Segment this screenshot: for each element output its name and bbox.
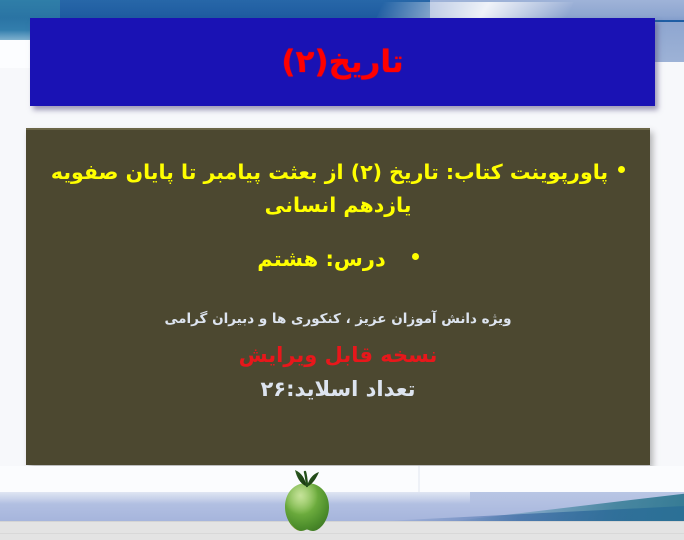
bullet-dot-icon <box>412 253 419 260</box>
bottom-white-seam-decoration <box>418 466 420 492</box>
audience-label: ویژه دانش آموزان عزیز ، کنکوری ها و دبیر… <box>44 310 632 328</box>
bottom-white-band-decoration <box>0 466 684 492</box>
content-box: پاورپوینت کتاب: تاریخ (۲) از بعثت پیامبر… <box>26 128 650 465</box>
book-line-label: پاورپوینت کتاب: تاریخ (۲) از بعثت پیامبر… <box>51 160 608 217</box>
editable-version-label: نسخه قابل ویرایش <box>44 341 632 369</box>
green-apple-icon <box>281 470 333 532</box>
slide-title: تاریخ(۲) <box>281 47 403 78</box>
bottom-gray-band-decoration <box>0 521 684 540</box>
slide-count-label: تعداد اسلاید:۲۶ <box>44 375 632 403</box>
bottom-blue-highlight-decoration <box>0 492 470 504</box>
bullet-dot-icon <box>618 166 625 173</box>
presentation-slide: تاریخ(۲) پاورپوینت کتاب: تاریخ (۲) از بع… <box>0 0 684 540</box>
bottom-gray-seam-decoration <box>0 533 684 534</box>
top-left-pane-decoration <box>0 40 30 68</box>
lesson-line-label: درس: هشتم <box>257 247 386 271</box>
title-banner: تاریخ(۲) <box>30 18 655 106</box>
top-swoosh-decoration <box>376 2 573 18</box>
lesson-bullet-item: درس: هشتم <box>44 242 632 276</box>
book-bullet-item: پاورپوینت کتاب: تاریخ (۲) از بعثت پیامبر… <box>44 156 632 222</box>
